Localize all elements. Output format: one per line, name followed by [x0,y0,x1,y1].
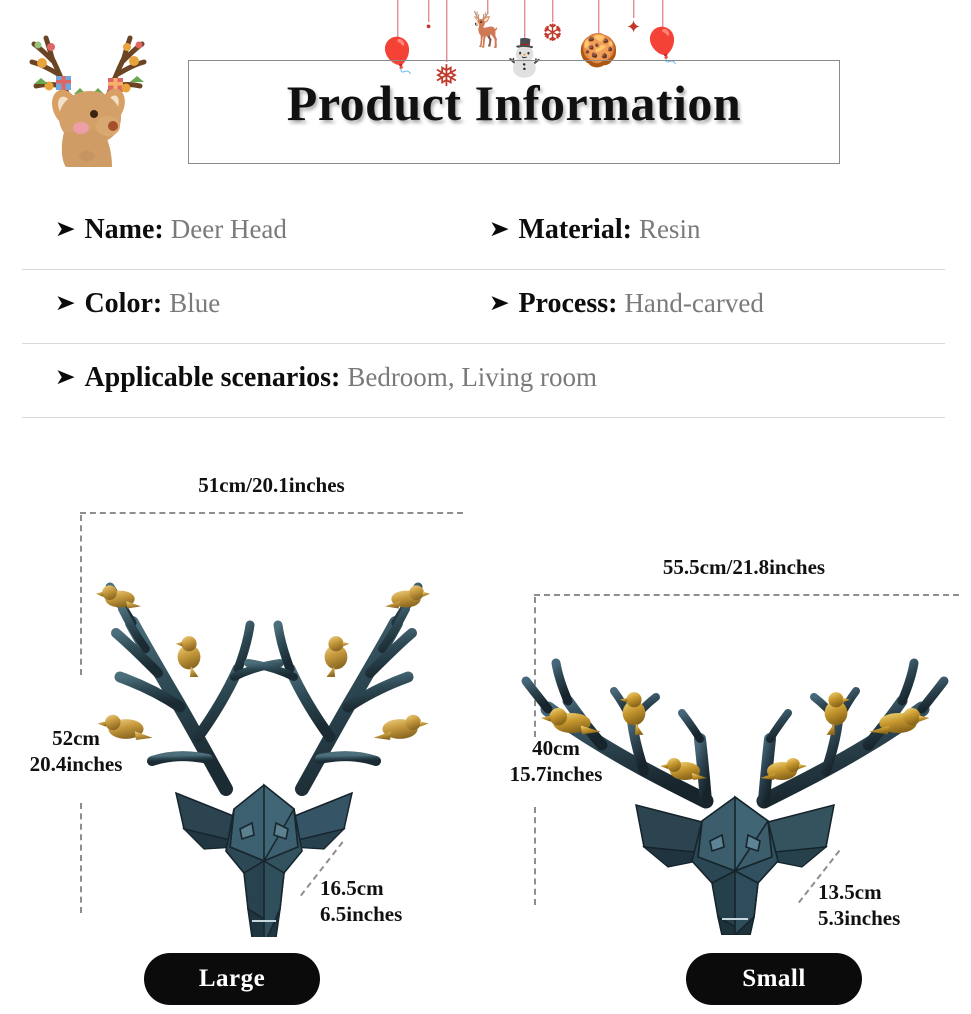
spec-label: Color: [84,288,162,319]
spec-item-name: ➤Name:Deer Head [56,214,287,246]
spec-value: Resin [639,214,701,244]
size-badge-small[interactable]: Small [686,953,862,1005]
spec-label: Material: [518,214,632,245]
product-information-page: 🎈•❅🦌❆⛄🍪✦🎈 Product Information ➤Name:Deer… [0,0,971,1014]
size-badge-large[interactable]: Large [144,953,320,1005]
spec-label: Name: [84,214,163,245]
ornament-string [633,0,634,18]
arrow-right-icon: ➤ [489,290,510,316]
ornament-string [524,0,525,40]
spec-item-color: ➤Color:Blue [56,288,220,320]
ornament-glyph: ✦ [626,18,641,36]
page-header: 🎈•❅🦌❆⛄🍪✦🎈 Product Information [0,0,971,190]
arrow-right-icon: ➤ [55,290,76,316]
ornament-string [598,0,599,34]
ornament-glyph: • [426,20,432,36]
ornament-string [552,0,553,22]
size-badge-label: Small [742,965,806,993]
ornament-glyph: 🎈 [641,30,683,64]
ornament-string [397,0,398,40]
spec-item-process: ➤Process:Hand-carved [490,288,764,320]
spec-table: ➤Name:Deer Head ➤Material:Resin ➤Color:B… [0,196,971,418]
page-title: Product Information [188,74,840,132]
ornament-string [662,0,663,30]
spec-item-scenarios: ➤Applicable scenarios:Bedroom, Living ro… [56,362,597,394]
spec-label: Process: [518,288,617,319]
spec-row: ➤Applicable scenarios:Bedroom, Living ro… [0,344,971,418]
width-dimension-line-small [534,594,959,596]
width-dimension-label-large: 51cm/20.1inches [80,473,463,498]
spec-value: Blue [169,288,220,318]
deer-head-sculpture-small-icon [510,605,960,935]
spec-item-material: ➤Material:Resin [490,214,700,246]
width-dimension-line-large [80,512,463,514]
row-divider [22,417,945,418]
spec-row: ➤Name:Deer Head ➤Material:Resin [0,196,971,270]
arrow-right-icon: ➤ [55,216,76,242]
arrow-right-icon: ➤ [55,364,76,390]
ornament-string [446,0,447,62]
spec-label: Applicable scenarios: [84,362,340,393]
arrow-right-icon: ➤ [489,216,510,242]
spec-row: ➤Color:Blue ➤Process:Hand-carved [0,270,971,344]
product-panel-large: 51cm/20.1inches 52cm 20.4inches 16.5cm 6… [0,455,486,1014]
spec-value: Bedroom, Living room [347,362,597,392]
spec-value: Hand-carved [624,288,763,318]
spec-value: Deer Head [171,214,287,244]
width-dimension-label-small: 55.5cm/21.8inches [534,555,954,580]
size-badge-label: Large [199,965,265,993]
deer-head-sculpture-large-icon [58,517,468,937]
product-panel-small: 55.5cm/21.8inches 40cm 15.7inches 13.5cm… [486,455,971,1014]
